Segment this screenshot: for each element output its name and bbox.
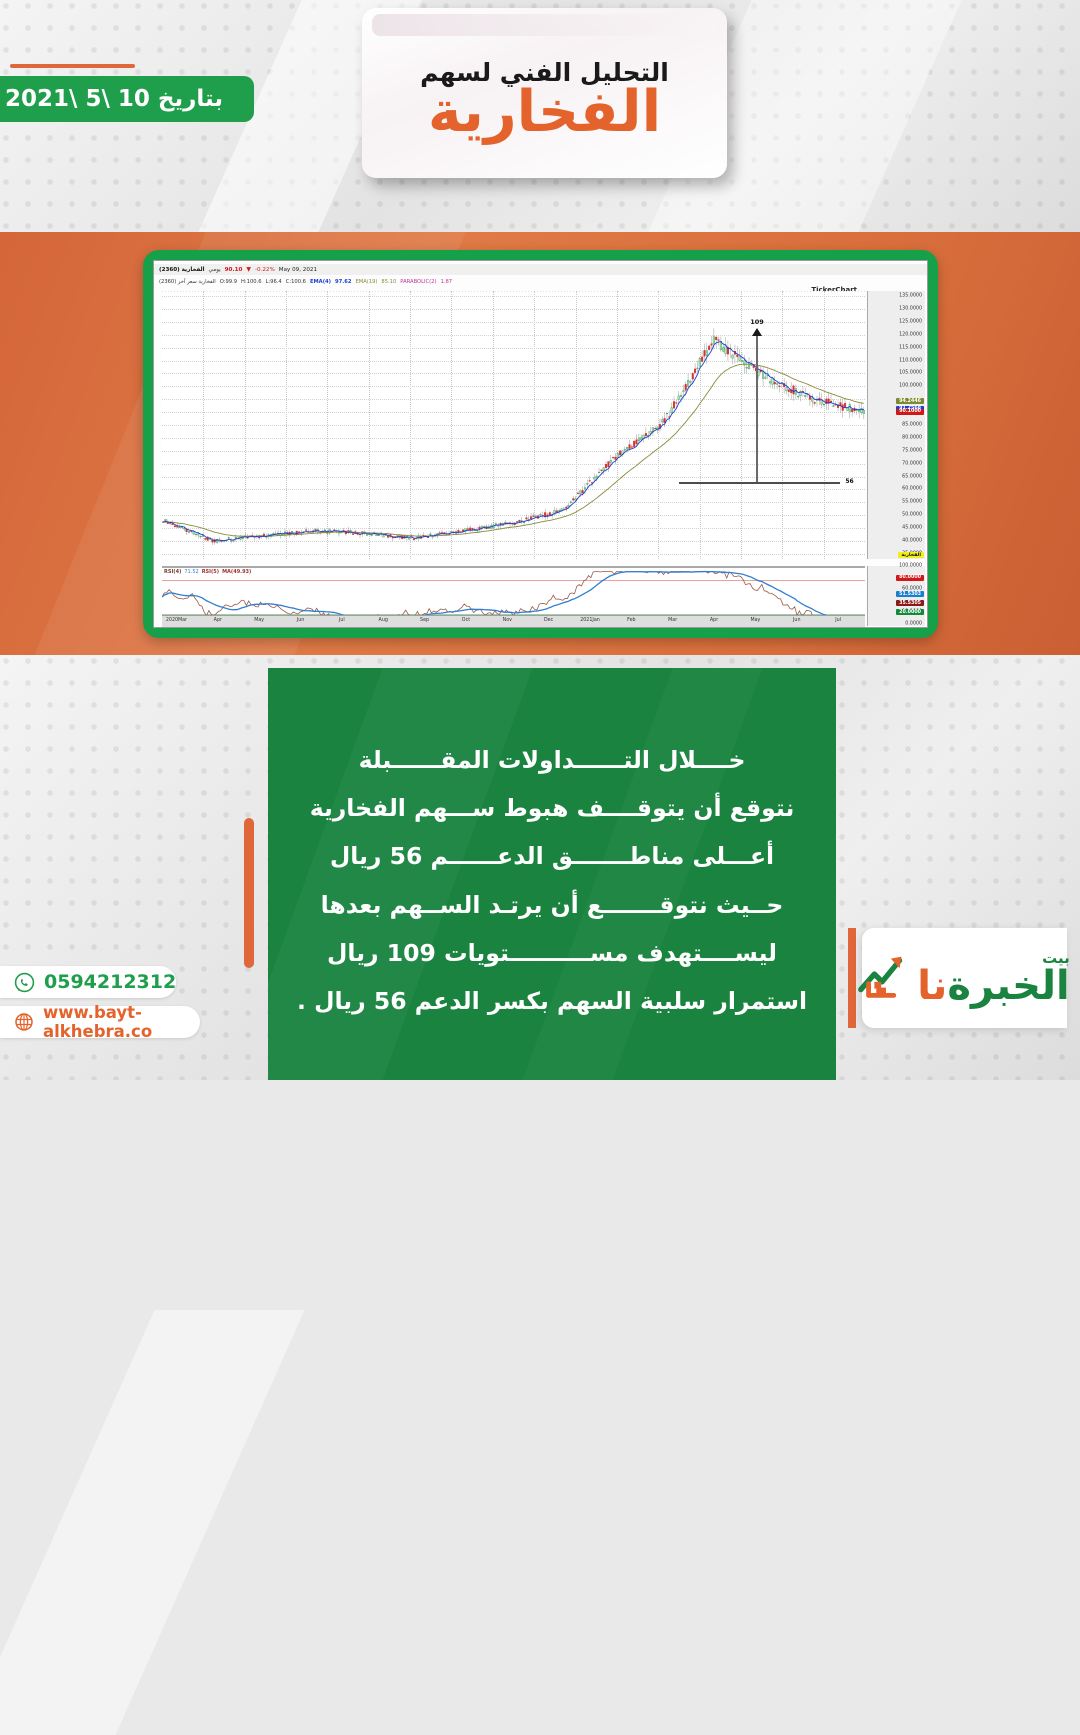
target-label: 109 [750,318,764,326]
chart-high: H:100.6 [241,279,262,285]
price-axis-tick: 125.0000 [899,319,922,324]
price-axis-marker: 90.1000 [896,409,924,415]
chart-ema-slow-value: 85.10 [381,279,396,285]
logo-accent-word: نا [917,963,947,1009]
date-axis-tick: Mar [668,618,677,623]
price-axis-tick: 80.0000 [902,435,922,440]
decorative-diagonal [0,1310,305,1735]
price-axis-tick: 110.0000 [899,358,922,363]
chart-symbol: الفخارية (2360) [159,267,205,273]
down-arrow-icon: ▼ [246,266,251,273]
analysis-line: أعـــلى مناطـــــــق الدعــــــم 56 ريال [294,832,810,880]
date-axis-tick: Jun [793,618,801,623]
date-axis-tick: May [750,618,760,623]
logo-big-main: الخبرة [947,963,1069,1009]
chart-close: C:100.6 [286,279,306,285]
contact-website-label: www.bayt-alkhebra.co [43,1003,180,1041]
target-arrow-head [752,328,762,336]
contact-phone[interactable]: 0594212312 [0,966,176,998]
chart-low: L:96.4 [266,279,282,285]
price-axis-tick: 100.0000 [899,384,922,389]
price-axis-tick: 60.0000 [902,487,922,492]
title-card: التحليل الفني لسهم الفخارية [362,8,727,178]
date-badge: بتاريخ 10 \5 \2021 [0,76,254,122]
logo-growth-arrow-icon [855,945,917,1011]
price-axis-tick: 45.0000 [902,526,922,531]
price-axis-tick: 75.0000 [902,448,922,453]
price-axis-tick: 115.0000 [899,345,922,350]
rsi-label-a: RSI(4) [164,569,181,575]
globe-icon [14,1012,34,1032]
chart-ema-slow-label: EMA(19) [355,279,377,285]
contact-phone-label: 0594212312 [44,971,176,993]
target-arrow-shaft [756,335,758,482]
support-line [679,482,841,484]
analysis-line: استمرار سلبية السهم بكسر الدعم 56 ريال . [294,977,810,1025]
rsi-axis-marker: 20.0000 [896,609,924,615]
price-axis-symbol-marker: الفخارية [898,552,924,558]
date-axis-tick: Dec [544,618,553,623]
chart-ema-fast-label: EMA(4) [310,279,331,285]
chart-series-name: الفخارية سعر آخر (2360) [159,279,216,285]
chart-frame: الفخارية (2360) يومي 90.10 ▼ -0.22% May … [143,250,938,638]
date-axis-tick: Nov [503,618,512,623]
title-card-sheen [372,14,717,36]
date-rule [10,64,135,68]
rsi-value-a: 71.52 [184,569,198,575]
price-axis-tick: 85.0000 [902,423,922,428]
date-axis-tick: 2020Mar [166,618,187,623]
rsi-axis-marker: 80.0000 [896,575,924,581]
analysis-line: خــــلال التــــــداولات المقــــــبلة [294,736,810,784]
date-axis-tick: Apr [710,618,718,623]
analysis-line: ليســــتهدف مســــــــــتويات 109 ريال [294,929,810,977]
page-title: الفخارية [428,83,661,143]
date-axis-tick: Aug [379,618,388,623]
logo-wordmark: بيت الخبرةنا [917,950,1069,1006]
analysis-text: خــــلال التــــــداولات المقــــــبلةنت… [268,668,836,1025]
chart-quote-date: May 09, 2021 [279,267,317,273]
logo-big-word: الخبرةنا [917,963,1069,1009]
chart-period: يومي [209,267,221,273]
support-label: 56 [845,478,853,485]
chart-parabolic-value: 1.87 [441,279,453,285]
price-axis-tick: 105.0000 [899,371,922,376]
chart-canvas[interactable]: الفخارية (2360) يومي 90.10 ▼ -0.22% May … [153,260,928,628]
chart-open: O:99.9 [220,279,237,285]
date-axis-tick: Apr [214,618,222,623]
date-axis-tick: Oct [462,618,470,623]
rsi-axis-marker: 35.5305 [896,600,924,606]
chart-change-pct: -0.22% [255,267,275,273]
price-axis-tick: 120.0000 [899,332,922,337]
analysis-line: نتوقع أن يتوقــــف هبوط ســـهم الفخارية [294,784,810,832]
date-axis-tick: May [254,618,264,623]
price-axis-tick: 50.0000 [902,513,922,518]
rsi-axis-tick: 100.0000 [899,564,922,569]
rsi-axis: 100.000060.000020.00000.000080.000051.53… [867,566,925,626]
date-axis-tick: Sep [420,618,429,623]
price-plot-area[interactable]: 56109 [162,291,865,559]
chart-ema-fast-value: 97.62 [335,279,351,285]
chart-info-row-primary: الفخارية (2360) يومي 90.10 ▼ -0.22% May … [154,264,927,275]
date-axis-tick: Jun [297,618,305,623]
analysis-line: حــيث نتوقـــــــع أن يرتـد الســهم بعده… [294,881,810,929]
price-axis-tick: 40.0000 [902,538,922,543]
chart-last-price: 90.10 [225,267,243,273]
date-axis-tick: Jul [835,618,841,623]
price-axis-tick: 135.0000 [899,294,922,299]
rsi-axis-tick: 0.0000 [905,622,922,627]
analysis-text-panel: خــــلال التــــــداولات المقــــــبلةنت… [268,668,836,1080]
chart-parabolic-label: PARABOLIC(2) [400,279,436,285]
price-axis-tick: 130.0000 [899,307,922,312]
brand-logo[interactable]: بيت الخبرةنا [862,928,1067,1028]
price-axis-tick: 65.0000 [902,474,922,479]
date-axis-tick: Jul [339,618,345,623]
date-axis-tick: Feb [627,618,636,623]
rsi-legend: RSI(4) 71.52 RSI(5) MA(49.93) [164,569,251,575]
date-axis: 2020MarAprMayJunJulAugSepOctNovDec2021Ja… [162,615,865,627]
rsi-value-b: MA(49.93) [222,569,251,575]
rsi-axis-marker: 51.5303 [896,591,924,597]
accent-bar [244,818,254,968]
price-axis-tick: 55.0000 [902,500,922,505]
price-axis: 135.0000130.0000125.0000120.0000115.0000… [867,291,925,559]
price-axis-marker: 94.2446 [896,398,924,404]
date-axis-tick: 2021Jan [580,618,600,623]
rsi-label-b: RSI(5) [202,569,219,575]
whatsapp-icon [14,972,35,993]
price-axis-tick: 70.0000 [902,461,922,466]
contact-website[interactable]: www.bayt-alkhebra.co [0,1006,200,1038]
